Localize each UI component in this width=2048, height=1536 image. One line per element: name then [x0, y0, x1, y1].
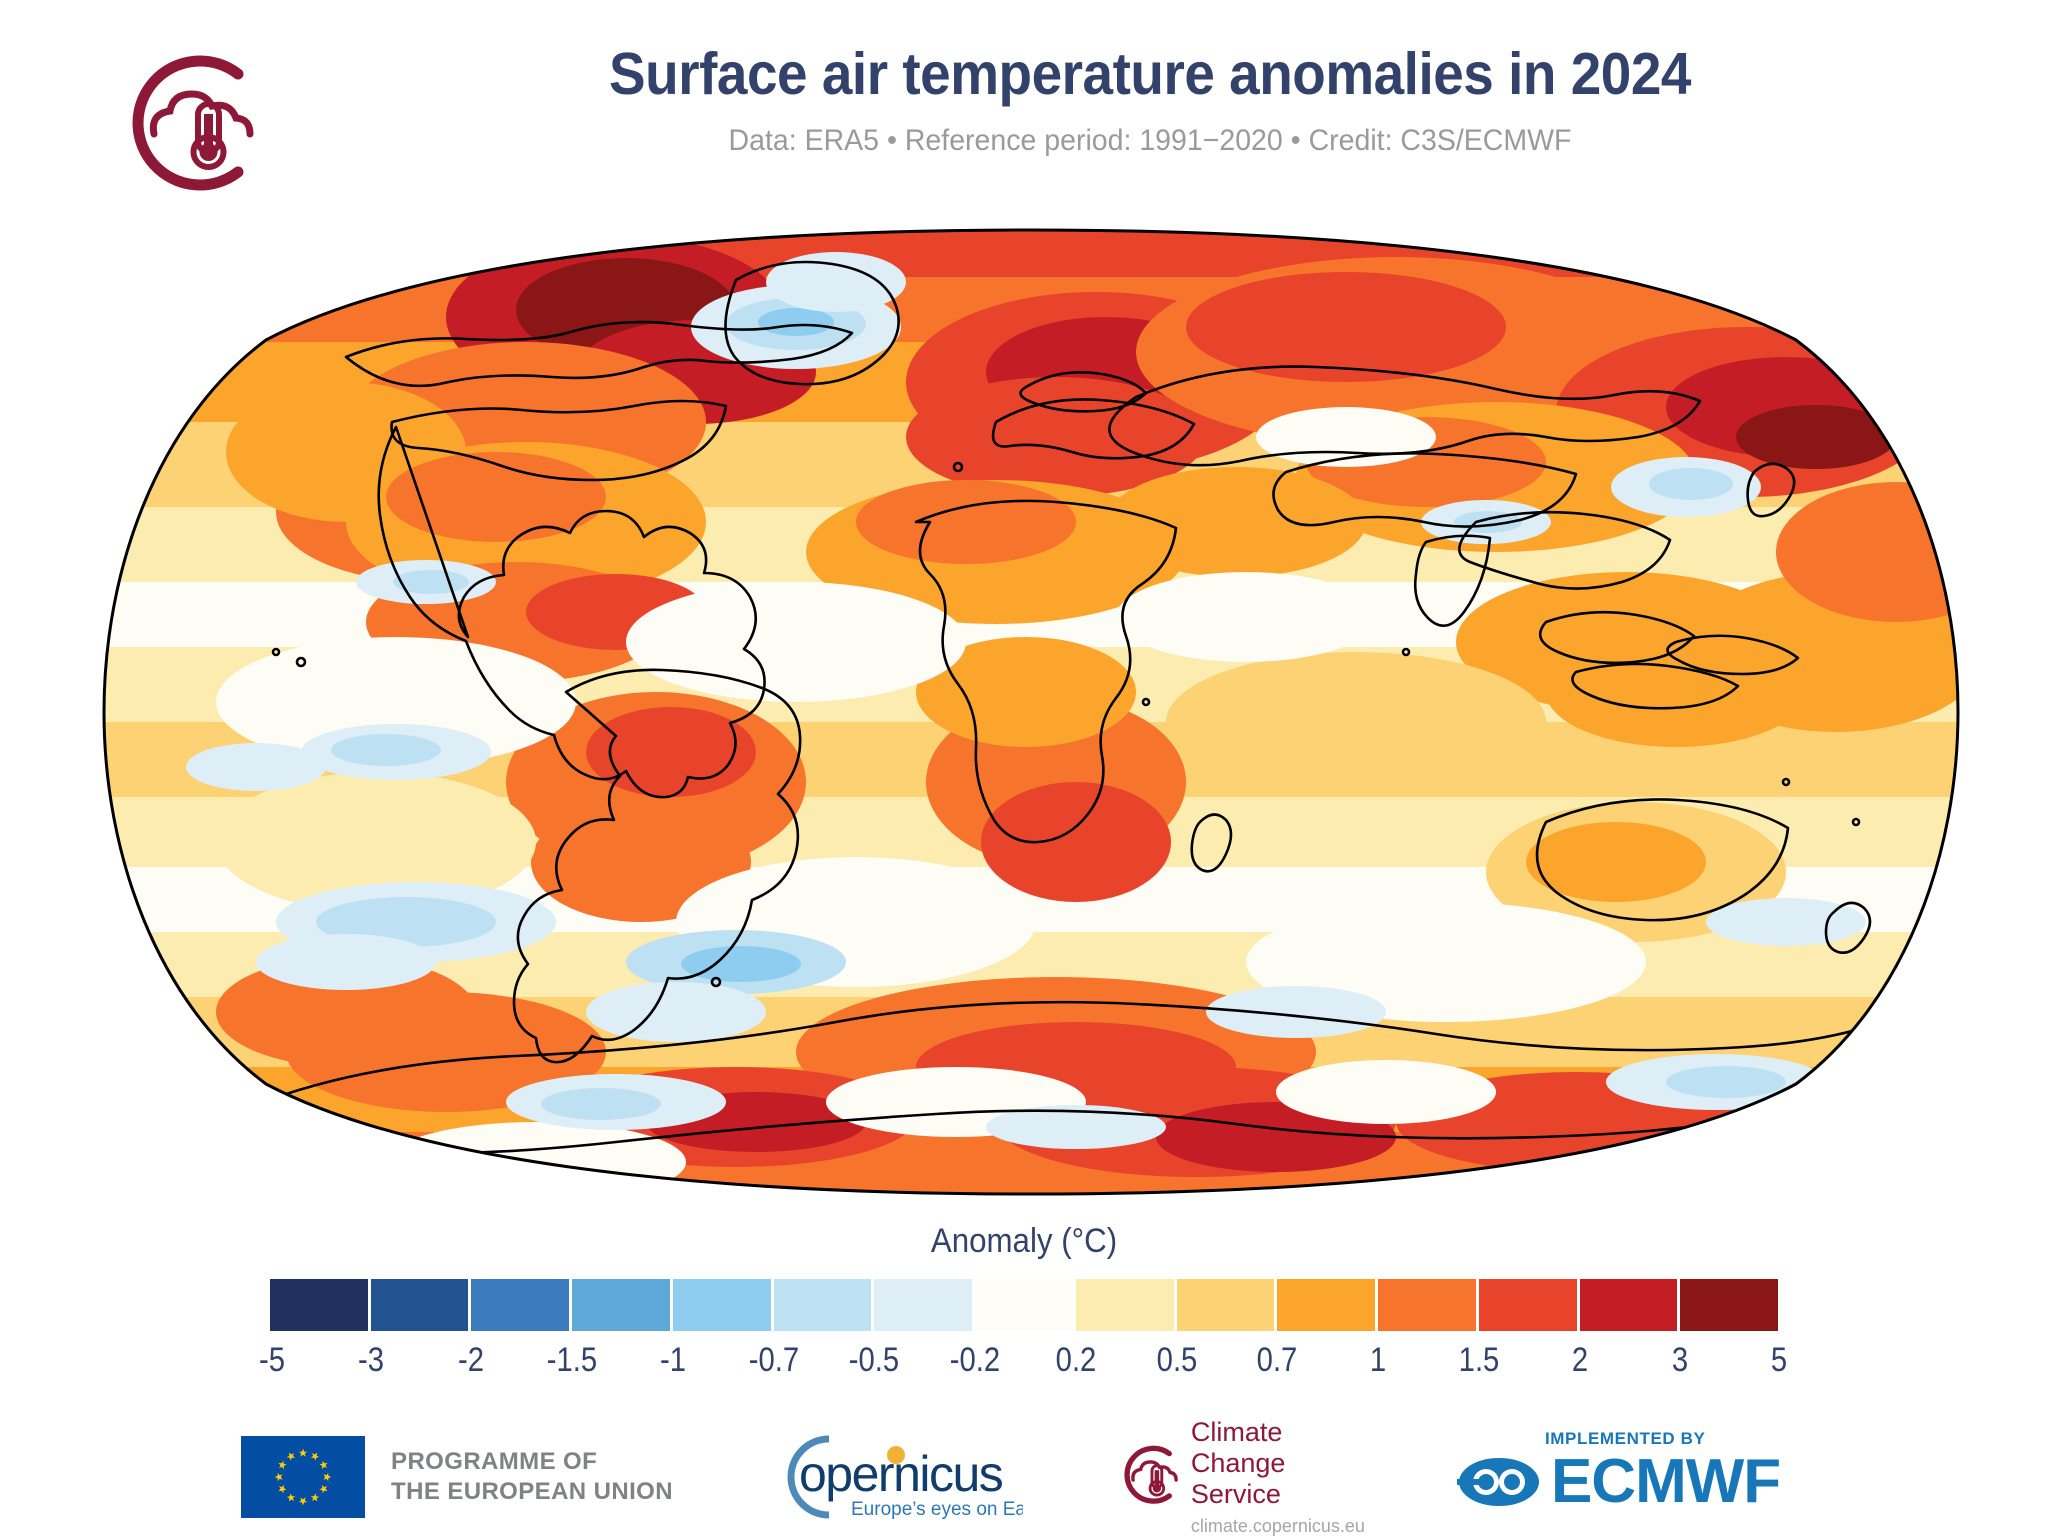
colorbar-tick-label: 1 [1370, 1341, 1386, 1380]
c3s-text-line-2: Change Service [1191, 1448, 1365, 1510]
colorbar-swatch [371, 1279, 469, 1331]
colorbar-tick-label: -0.2 [950, 1341, 1000, 1380]
colorbar-swatch [270, 1279, 368, 1331]
colorbar-tick-label: 0.5 [1156, 1341, 1197, 1380]
colorbar-swatch [1680, 1279, 1778, 1331]
colorbar-tick-label: -2 [458, 1341, 484, 1380]
colorbar-swatch [1277, 1279, 1375, 1331]
eu-logo: PROGRAMME OF THE EUROPEAN UNION [241, 1436, 673, 1518]
colorbar-tick-label: -0.7 [748, 1341, 798, 1380]
colorbar-swatch [1580, 1279, 1678, 1331]
colorbar-tick-label: 0.2 [1056, 1341, 1097, 1380]
page-title: Surface air temperature anomalies in 202… [360, 44, 1941, 106]
c3s-url: climate.copernicus.eu [1191, 1516, 1365, 1536]
eu-text-line-1: PROGRAMME OF [391, 1447, 673, 1477]
colorbar-ticks: -5-3-2-1.5-1-0.7-0.5-0.20.20.50.711.5235 [270, 1341, 1778, 1385]
colorbar-tick-label: -5 [259, 1341, 285, 1380]
copernicus-logo: opernicus Europe’s eyes on Earth opernic… [765, 1429, 1023, 1525]
colorbar-swatch [1479, 1279, 1577, 1331]
c3s-cloud-thermometer-icon [110, 48, 270, 198]
colorbar-tick-label: 0.7 [1257, 1341, 1298, 1380]
colorbar-tick-label: 5 [1771, 1341, 1787, 1380]
colorbar-swatch [572, 1279, 670, 1331]
colorbar-tick-label: -1.5 [547, 1341, 597, 1380]
header: Surface air temperature anomalies in 202… [300, 44, 2000, 158]
colorbar-tick-label: 3 [1672, 1341, 1688, 1380]
colorbar-swatch [1177, 1279, 1275, 1331]
eu-flag-icon [241, 1436, 365, 1518]
ecmwf-implemented-by-label: IMPLEMENTED BY [1545, 1429, 1807, 1449]
colorbar-swatch [1076, 1279, 1174, 1331]
colorbar-tick-label: -3 [358, 1341, 384, 1380]
eu-logo-text: PROGRAMME OF THE EUROPEAN UNION [391, 1447, 673, 1507]
c3s-cloud-thermometer-icon [1115, 1435, 1183, 1519]
colorbar-tick-label: 1.5 [1458, 1341, 1499, 1380]
c3s-logo: Climate Change Service climate.copernicu… [1115, 1429, 1365, 1525]
world-anomaly-map [96, 222, 1966, 1202]
climate-map-figure: Surface air temperature anomalies in 202… [0, 0, 2048, 1536]
colorbar-tick-label: 2 [1571, 1341, 1587, 1380]
colorbar-tick-label: -0.5 [849, 1341, 899, 1380]
colorbar-label: Anomaly (°C) [82, 1222, 1966, 1261]
ecmwf-wordmark: ECMWF [1551, 1451, 1780, 1513]
footer: PROGRAMME OF THE EUROPEAN UNION opernicu… [0, 1418, 2048, 1536]
colorbar-tick-label: -1 [660, 1341, 686, 1380]
ecmwf-globe-icon [1457, 1454, 1541, 1510]
ecmwf-logo: IMPLEMENTED BY ECMWF [1457, 1429, 1807, 1525]
c3s-logo-text: Climate Change Service climate.copernicu… [1191, 1417, 1365, 1536]
colorbar-swatch [975, 1279, 1073, 1331]
svg-text:Europe’s eyes on Earth: Europe’s eyes on Earth [851, 1499, 1023, 1520]
page-subtitle: Data: ERA5 • Reference period: 1991−2020… [343, 124, 1958, 158]
colorbar-swatches [270, 1279, 1778, 1331]
eu-text-line-2: THE EUROPEAN UNION [391, 1477, 673, 1507]
colorbar-swatch [673, 1279, 771, 1331]
colorbar-swatch [471, 1279, 569, 1331]
colorbar-swatch [874, 1279, 972, 1331]
colorbar: Anomaly (°C) -5-3-2-1.5-1-0.7-0.5-0.20.2… [0, 1222, 2048, 1385]
colorbar-swatch [1378, 1279, 1476, 1331]
colorbar-swatch [774, 1279, 872, 1331]
c3s-text-line-1: Climate [1191, 1417, 1365, 1448]
